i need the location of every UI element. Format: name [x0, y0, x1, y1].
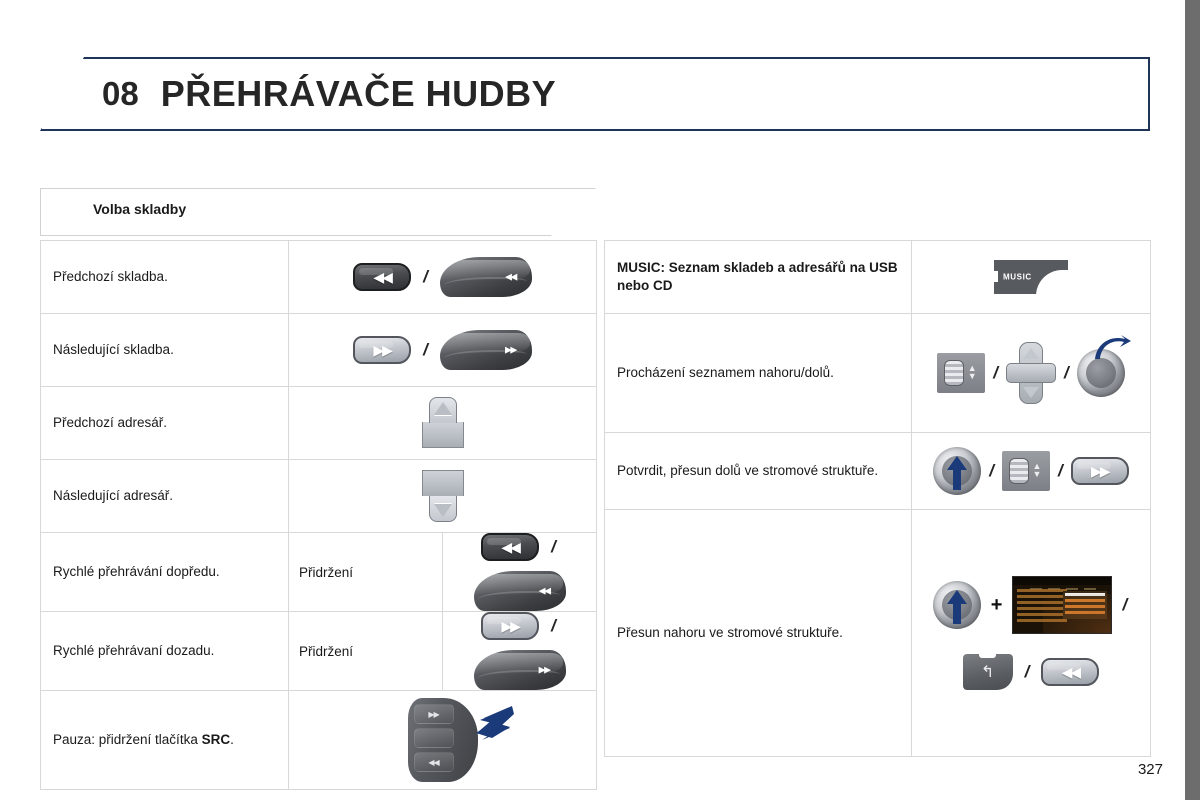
- rewind-button-icon[interactable]: ◀◀: [481, 533, 539, 561]
- steering-wheel-pad-icon[interactable]: ▶▶ ◀◀: [408, 698, 478, 782]
- row-action-prefix: Pauza: přidržení tlačítka: [53, 732, 202, 747]
- mini-screen-icon: [1012, 576, 1112, 634]
- row-modifier-label: Přidržení: [289, 559, 442, 586]
- row-action-label: Rychlé přehrávání dopředu.: [41, 557, 288, 587]
- section-header-label: Volba skladby: [93, 201, 186, 217]
- row-icons: ▶▶ ◀◀: [289, 698, 596, 782]
- forward-button-icon[interactable]: ▶▶: [1071, 457, 1129, 485]
- separator-slash: /: [421, 340, 430, 360]
- forward-glyph: ▶▶: [539, 665, 550, 676]
- back-button-icon[interactable]: ↰: [963, 654, 1013, 690]
- row-action-suffix: .: [230, 732, 234, 747]
- page-number: 327: [1138, 761, 1163, 778]
- rewind-button-icon[interactable]: ◀◀: [1041, 658, 1099, 686]
- steering-wheel-forward-icon[interactable]: ▶▶: [440, 330, 532, 370]
- folder-up-button-icon[interactable]: [422, 397, 464, 449]
- rewind-glyph: ◀◀: [481, 533, 539, 561]
- music-button-label: MUSIC: [1003, 273, 1032, 282]
- cross-pad-icon[interactable]: [1006, 342, 1056, 404]
- row-action-label: Potvrdit, přesun dolů ve stromové strukt…: [605, 456, 911, 486]
- src-segment: [414, 728, 454, 748]
- row-icons: + / ↰ /: [912, 576, 1150, 690]
- src-button-name: SRC: [202, 732, 231, 747]
- separator-slash: /: [421, 267, 430, 287]
- screen-topbar: [1013, 577, 1111, 585]
- music-list-table: MUSIC: Seznam skladeb a adresářů na USB …: [604, 240, 1151, 757]
- separator-slash: /: [549, 537, 558, 557]
- rewind-glyph: ◀◀: [539, 586, 550, 597]
- row-icons: [289, 397, 596, 449]
- thumbwheel-icon[interactable]: ▲▼: [1002, 451, 1050, 491]
- table-row: Rychlé přehrávaní dozadu. Přidržení ▶▶ /…: [41, 612, 597, 691]
- row-icons: ◀◀ / ◀◀: [289, 257, 596, 297]
- table-row: Předchozí adresář.: [41, 387, 597, 460]
- separator-slash: /: [1062, 363, 1071, 383]
- row-icons: ▶▶ / ▶▶: [443, 612, 596, 690]
- press-arrow-icon: [947, 590, 967, 629]
- row-action-label: Následující adresář.: [41, 481, 288, 511]
- rewind-glyph: ◀◀: [414, 752, 454, 772]
- row-action-label: Pauza: přidržení tlačítka SRC.: [41, 725, 288, 755]
- forward-glyph: ▶▶: [1071, 457, 1129, 485]
- row-icons: ▲▼ / /: [912, 342, 1150, 404]
- blue-arrow-pointer-icon: [462, 702, 514, 747]
- chapter-title-content: 08 PŘEHRÁVAČE HUDBY: [40, 57, 1150, 131]
- row-action-label: Předchozí skladba.: [41, 262, 288, 292]
- row-icons: MUSIC: [912, 260, 1150, 294]
- row-action-label: Předchozí adresář.: [41, 408, 288, 438]
- rotary-knob-turn-icon[interactable]: [1077, 349, 1125, 397]
- rewind-glyph: ◀◀: [1041, 658, 1099, 686]
- table-row: MUSIC: Seznam skladeb a adresářů na USB …: [605, 241, 1151, 314]
- table-row: Následující adresář.: [41, 460, 597, 533]
- row-modifier-label: Přidržení: [289, 638, 442, 665]
- press-arrow-icon: [947, 456, 967, 495]
- row-action-label: Rychlé přehrávaní dozadu.: [41, 636, 288, 666]
- thumbwheel-icon[interactable]: ▲▼: [937, 353, 985, 393]
- table-row: Procházení seznamem nahoru/dolů. ▲▼ / /: [605, 314, 1151, 433]
- separator-slash: /: [1023, 662, 1032, 682]
- page-edge-strip: [1185, 0, 1200, 800]
- row-action-label: Přesun nahoru ve stromové struktuře.: [605, 618, 911, 648]
- steering-wheel-forward-icon[interactable]: ▶▶: [474, 650, 566, 690]
- row-icons: [289, 470, 596, 522]
- separator-slash: /: [987, 461, 996, 481]
- music-button-icon[interactable]: MUSIC: [994, 260, 1068, 294]
- forward-glyph: ▶▶: [505, 345, 516, 356]
- table-row: Rychlé přehrávání dopředu. Přidržení ◀◀ …: [41, 533, 597, 612]
- row-icons: ▶▶ / ▶▶: [289, 330, 596, 370]
- rewind-button-icon[interactable]: ◀◀: [353, 263, 411, 291]
- rewind-glyph: ◀◀: [353, 263, 411, 291]
- row-icons-bottom: ↰ / ◀◀: [963, 654, 1100, 690]
- row-icons-top: + /: [933, 576, 1129, 634]
- rewind-glyph: ◀◀: [505, 272, 516, 283]
- forward-glyph: ▶▶: [481, 612, 539, 640]
- table-row: Předchozí skladba. ◀◀ / ◀◀: [41, 241, 597, 314]
- track-selection-table: Předchozí skladba. ◀◀ / ◀◀ Následující s…: [40, 240, 597, 790]
- page-title: PŘEHRÁVAČE HUDBY: [161, 73, 556, 115]
- rotary-knob-press-icon[interactable]: [933, 447, 981, 495]
- chapter-number: 08: [102, 75, 139, 113]
- thumbwheel-cross-icon: ▲▼: [964, 364, 980, 382]
- separator-slash: /: [1120, 595, 1129, 615]
- table-row: Přesun nahoru ve stromové struktuře. +: [605, 510, 1151, 757]
- separator-slash: /: [1056, 461, 1065, 481]
- forward-button-icon[interactable]: ▶▶: [353, 336, 411, 364]
- back-glyph: ↰: [963, 654, 1013, 690]
- rotate-arrow-icon: [1093, 335, 1127, 359]
- row-action-label: MUSIC: Seznam skladeb a adresářů na USB …: [605, 253, 911, 301]
- steering-wheel-rewind-icon[interactable]: ◀◀: [474, 571, 566, 611]
- row-icons: ◀◀ / ◀◀: [443, 533, 596, 611]
- folder-down-button-icon[interactable]: [422, 470, 464, 522]
- separator-slash: /: [991, 363, 1000, 383]
- table-row: Pauza: přidržení tlačítka SRC. ▶▶ ◀◀: [41, 691, 597, 790]
- row-action-label: Následující skladba.: [41, 335, 288, 365]
- forward-button-icon[interactable]: ▶▶: [481, 612, 539, 640]
- forward-glyph: ▶▶: [414, 704, 454, 724]
- plus-sign: +: [989, 594, 1005, 617]
- thumbwheel-cross-icon: ▲▼: [1029, 462, 1045, 480]
- rotary-knob-press-icon[interactable]: [933, 581, 981, 629]
- table-row: Následující skladba. ▶▶ / ▶▶: [41, 314, 597, 387]
- forward-glyph: ▶▶: [353, 336, 411, 364]
- steering-wheel-rewind-icon[interactable]: ◀◀: [440, 257, 532, 297]
- table-row: Potvrdit, přesun dolů ve stromové strukt…: [605, 433, 1151, 510]
- row-icons: / ▲▼ / ▶▶: [912, 447, 1150, 495]
- row-action-label: Procházení seznamem nahoru/dolů.: [605, 358, 911, 388]
- separator-slash: /: [549, 616, 558, 636]
